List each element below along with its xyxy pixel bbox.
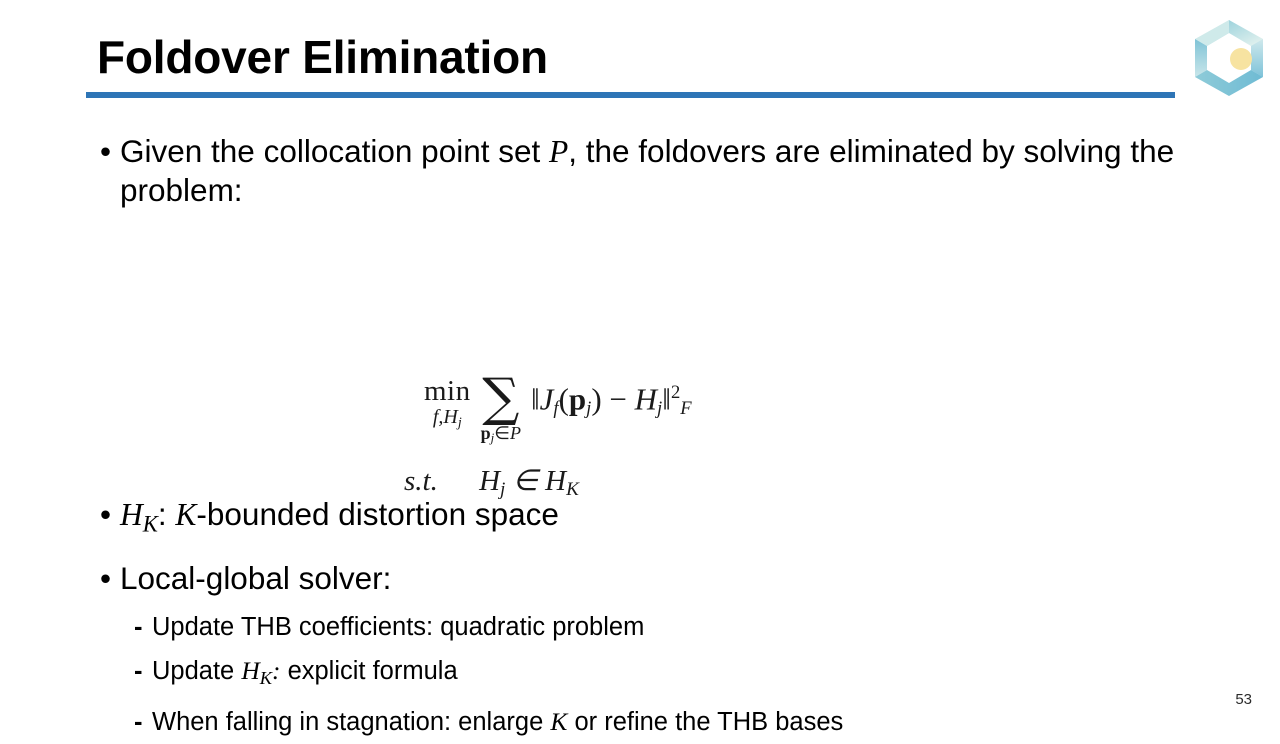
bullet-text: Given the collocation point set P, the f… [120,133,1174,208]
bullet-item-hk-space: • HK: K-bounded distortion space [0,495,1280,543]
sub-bullet-dash-icon: - [134,700,143,744]
constraint-expression: Hj ∈ HK [479,465,579,497]
sub-bullet-item-update-hk: - Update HK: explicit formula [0,649,1280,700]
min-operator-label: min [424,376,471,406]
objective-expression: ‖Jf(pj) − Hj‖2F [531,375,692,427]
sub-bullet-text: Update THB coefficients: quadratic probl… [152,613,644,641]
sigma-icon: ∑ [482,374,519,422]
math-symbol-HK: HK [120,497,158,532]
math-symbol-K: K [550,707,567,736]
equation-objective: min f,Hj ∑ pj∈P ‖Jf(pj) − Hj‖2F [424,368,692,442]
bullet-item-local-global-solver: • Local-global solver: [0,559,1280,597]
bullet-text: HK: K-bounded distortion space [120,496,559,532]
bullet-marker-icon: • [100,559,111,597]
bullet-marker-icon: • [100,132,111,170]
sub-bullet-text: Update HK: explicit formula [152,657,458,685]
page-title: Foldover Elimination [97,33,548,81]
page-number: 53 [1235,691,1252,708]
summation-operator: ∑ pj∈P [481,374,521,448]
bullet-item-given: • Given the collocation point set P, the… [0,132,1180,209]
math-symbol-HK: HK [241,656,272,685]
sub-bullet-dash-icon: - [134,605,143,649]
hexagon-g-logo-svg [1189,17,1269,99]
equation-spacer [0,209,1280,362]
title-underline-rule [86,92,1175,98]
sub-bullet-item-stagnation: - When falling in stagnation: enlarge K … [0,700,1280,744]
min-operator: min f,Hj [424,376,471,435]
min-operator-subscript: f,Hj [433,406,462,435]
bullet-text: Local-global solver: [120,560,391,596]
bullet-marker-icon: • [100,495,111,533]
summation-subscript: pj∈P [481,423,521,448]
subject-to-label: s.t. [404,465,438,497]
hexagon-g-logo [1189,17,1269,99]
sub-bullet-item-update-thb: - Update THB coefficients: quadratic pro… [0,605,1280,649]
sub-bullet-dash-icon: - [134,649,143,693]
math-symbol-K: K [175,497,196,532]
math-symbol-P: P [549,134,568,169]
logo-accent-circle [1230,48,1252,70]
slide-body: • Given the collocation point set P, the… [0,132,1280,744]
sub-bullet-text: When falling in stagnation: enlarge K or… [152,708,843,736]
